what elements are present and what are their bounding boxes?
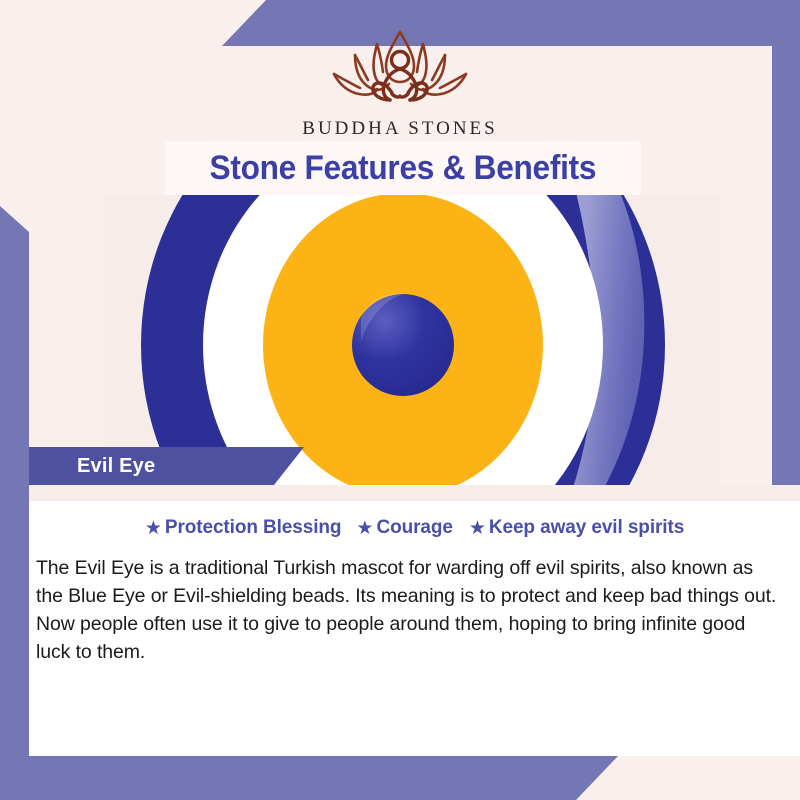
star-icon: ★ [145,519,162,538]
poster-canvas: BUDDHA STONES Stone Features & Benefits [0,0,800,800]
panel-separator [29,485,800,501]
hero-caption-label: Evil Eye [77,455,155,478]
evil-eye-bead-graphic [103,195,720,485]
feature-tag-courage: ★ Courage [356,517,452,539]
decor-band-left [0,206,29,800]
star-icon: ★ [356,519,373,538]
content-panel: ★ Protection Blessing ★ Courage ★ Keep a… [29,501,800,756]
lotus-meditating-figure-icon [314,22,486,114]
brand-logo: BUDDHA STONES [0,22,800,140]
feature-tag-row: ★ Protection Blessing ★ Courage ★ Keep a… [29,517,800,539]
description-text: The Evil Eye is a traditional Turkish ma… [36,554,782,666]
star-icon: ★ [469,519,486,538]
feature-tag-keep-away-evil-spirits: ★ Keep away evil spirits [469,517,684,539]
hero-image [103,195,720,485]
page-title: Stone Features & Benefits [210,149,597,188]
decor-band-bottom [0,756,618,800]
hero-caption: Evil Eye [29,447,304,485]
feature-tag-protection-blessing: ★ Protection Blessing [145,517,342,539]
feature-label: Courage [376,517,452,539]
title-banner: Stone Features & Benefits [165,141,641,195]
feature-label: Protection Blessing [165,517,342,539]
feature-label: Keep away evil spirits [489,517,684,539]
brand-name: BUDDHA STONES [302,118,497,140]
